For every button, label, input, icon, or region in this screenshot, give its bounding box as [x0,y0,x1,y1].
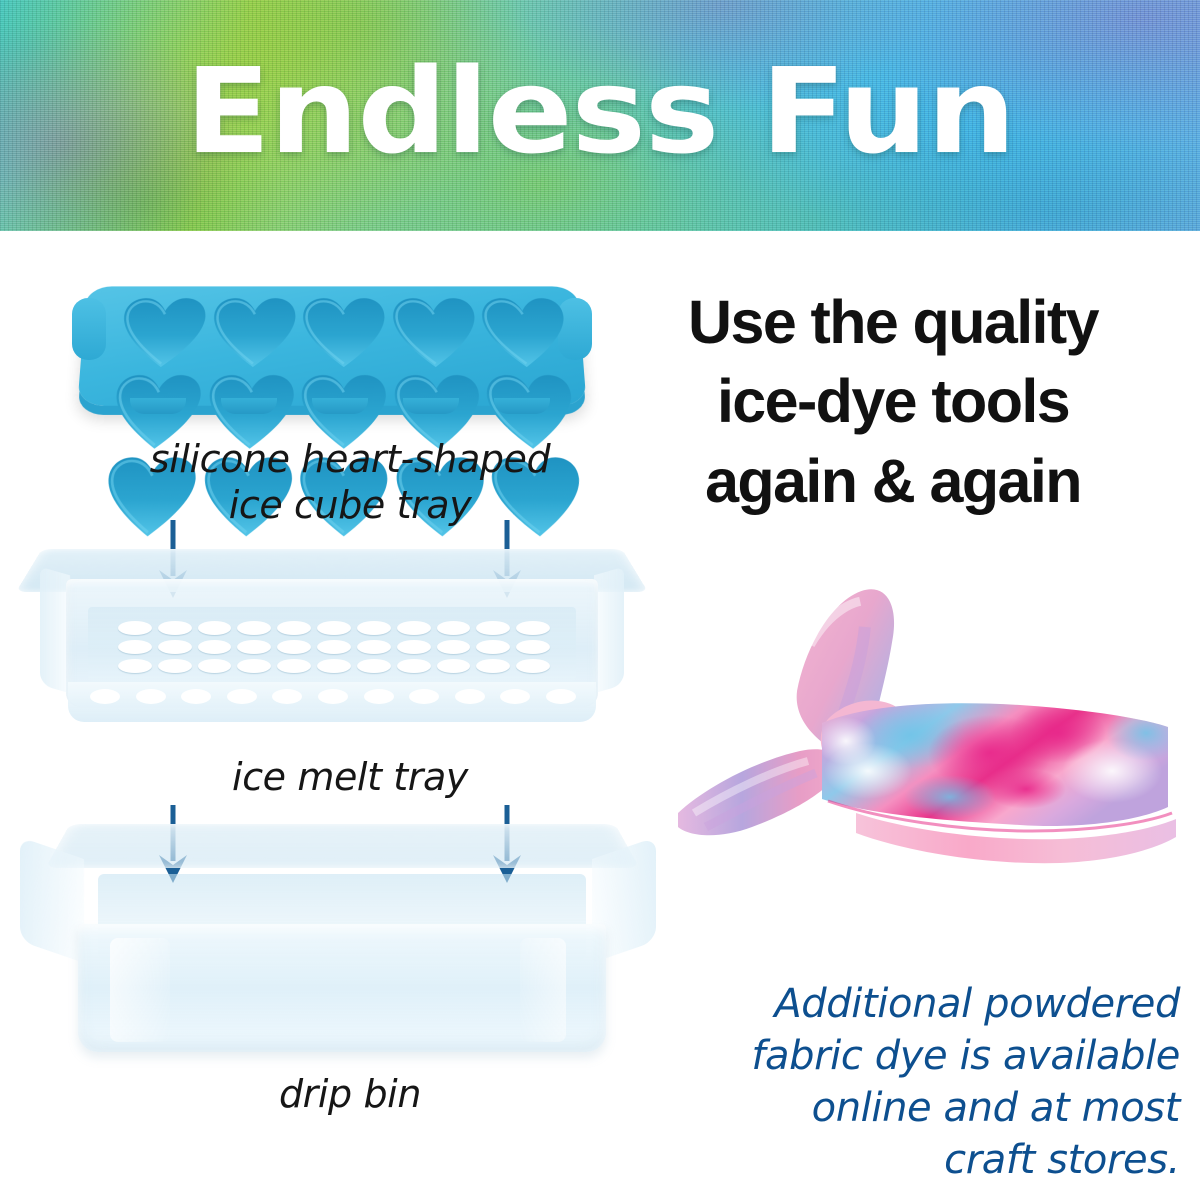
note-line: fabric dye is available [700,1030,1180,1082]
drain-hole [277,621,311,635]
drain-hole [158,621,192,635]
drip-bin-left-edge [20,837,84,963]
drip-bin-image [18,820,658,1070]
drain-hole [158,640,192,654]
tray-foot [494,398,550,414]
drain-hole [198,621,232,635]
drain-hole [476,621,510,635]
drain-hole [437,640,471,654]
melt-tray-right-edge [594,567,624,694]
tray-foot [221,398,277,414]
melt-tray-drain-hole-grid [118,621,550,673]
drain-hole [357,659,391,673]
drain-hole [277,640,311,654]
front-drain-hole [546,689,576,704]
headline-line-2: ice-dye tools [600,362,1186,441]
tray-foot [130,398,186,414]
drain-hole [118,659,152,673]
drain-hole [397,659,431,673]
label-line: drip bin [90,1072,610,1118]
drain-hole [357,621,391,635]
drain-hole [237,640,271,654]
drain-hole [516,640,550,654]
heart-cavity [301,297,388,371]
tray-cavity-underside [130,398,550,416]
front-drain-hole [227,689,257,704]
drip-bin-highlight-right [520,938,566,1042]
drain-hole [237,659,271,673]
label-line: silicone heart-shaped [90,437,610,483]
front-drain-hole [318,689,348,704]
label-silicone-heart-tray: silicone heart-shaped ice cube tray [90,437,610,528]
headline-line-3: again & again [600,442,1186,521]
headline-line-1: Use the quality [600,283,1186,362]
banner-title: Endless Fun [0,52,1200,170]
drip-bin-highlight-left [110,938,170,1042]
tray-handle-left [72,298,106,360]
front-drain-hole [500,689,530,704]
drain-hole [476,640,510,654]
ice-melt-tray-image [22,545,642,745]
label-drip-bin: drip bin [90,1072,610,1118]
drain-hole [397,621,431,635]
drain-hole [237,621,271,635]
drip-bin-rim [45,824,639,868]
headline: Use the quality ice-dye tools again & ag… [600,283,1186,521]
drain-hole [476,659,510,673]
silicone-heart-ice-cube-tray-image [72,276,592,426]
front-drain-hole [181,689,211,704]
tray-foot [403,398,459,414]
drain-hole [118,621,152,635]
drain-hole [317,659,351,673]
drain-hole [158,659,192,673]
drain-hole [397,640,431,654]
drain-hole [437,659,471,673]
front-drain-hole [272,689,302,704]
drain-hole [357,640,391,654]
label-line: ice melt tray [90,755,610,801]
drain-hole [277,659,311,673]
drain-hole [317,621,351,635]
heart-cavity [480,297,571,371]
front-drain-hole [90,689,120,704]
tie-dye-headband-image [660,575,1190,885]
header-banner: Endless Fun [0,0,1200,231]
additional-dye-note: Additional powdered fabric dye is availa… [700,978,1180,1186]
drain-hole [437,621,471,635]
front-drain-hole [409,689,439,704]
tray-foot [312,398,368,414]
tray-cavity-grid [115,297,572,390]
heart-cavity [117,297,208,371]
drain-hole [118,640,152,654]
drain-hole [516,659,550,673]
drain-hole [317,640,351,654]
note-line: online and at most [700,1082,1180,1134]
front-drain-hole [136,689,166,704]
drain-hole [516,621,550,635]
drain-hole [198,640,232,654]
headband-tail-lower [678,749,839,835]
melt-tray-front-hole-row [90,689,576,705]
note-line: Additional powdered [700,978,1180,1030]
front-drain-hole [455,689,485,704]
front-drain-hole [364,689,394,704]
note-line: craft stores. [700,1134,1180,1186]
label-ice-melt-tray: ice melt tray [90,755,610,801]
drain-hole [198,659,232,673]
heart-cavity [209,297,297,371]
heart-cavity [391,297,479,371]
